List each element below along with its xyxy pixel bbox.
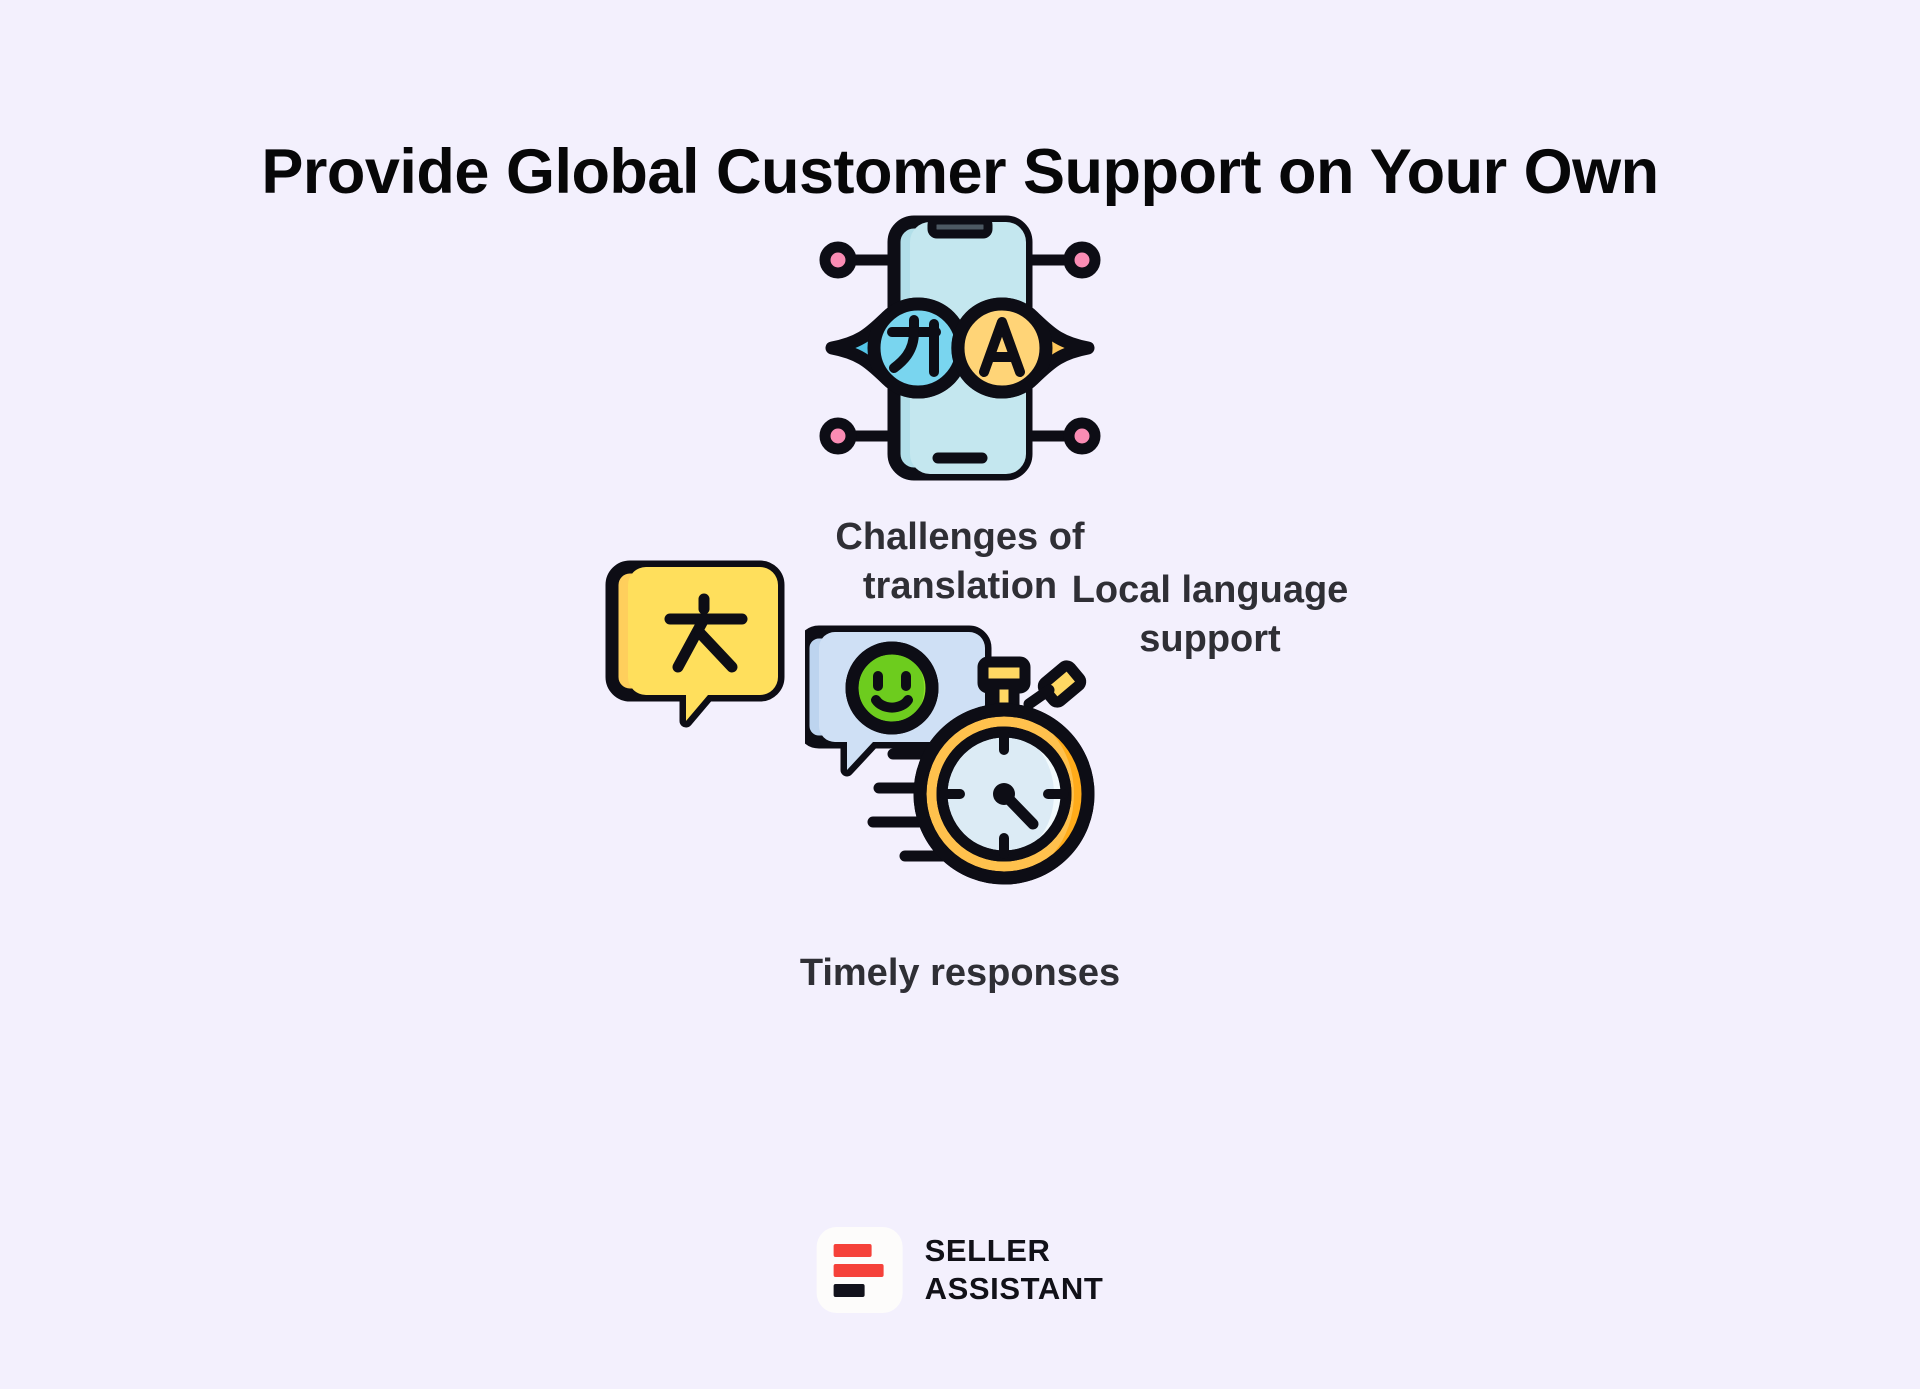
feature-card-label: Timely responses (800, 949, 1120, 998)
seller-assistant-logo-mark (817, 1227, 903, 1313)
speech-bubbles-translate-svg (600, 545, 900, 815)
feature-card-local-language-support (500, 540, 1000, 820)
logo-wordmark: SELLER ASSISTANT (925, 1232, 1104, 1308)
logo-bar-middle (834, 1264, 884, 1277)
yellow-speech-bubble (612, 567, 778, 721)
logo-bar-top (834, 1244, 872, 1257)
seller-assistant-logo: SELLER ASSISTANT (817, 1227, 1104, 1313)
feature-cards-row: Local language support (0, 540, 1920, 820)
page-title: Provide Global Customer Support on Your … (261, 138, 1658, 207)
infographic-page: Provide Global Customer Support on Your … (0, 0, 1920, 1389)
phone-translation-svg (810, 212, 1110, 482)
logo-line-seller: SELLER (925, 1232, 1104, 1270)
logo-bar-bottom (834, 1284, 865, 1297)
logo-line-assistant: ASSISTANT (925, 1270, 1104, 1308)
right-translate-bubble (958, 304, 1088, 392)
phone-translation-icon (810, 207, 1110, 487)
feature-card-label: Local language support (1000, 566, 1420, 663)
left-translate-bubble (832, 304, 962, 392)
speech-bubbles-translate-icon (600, 540, 900, 820)
